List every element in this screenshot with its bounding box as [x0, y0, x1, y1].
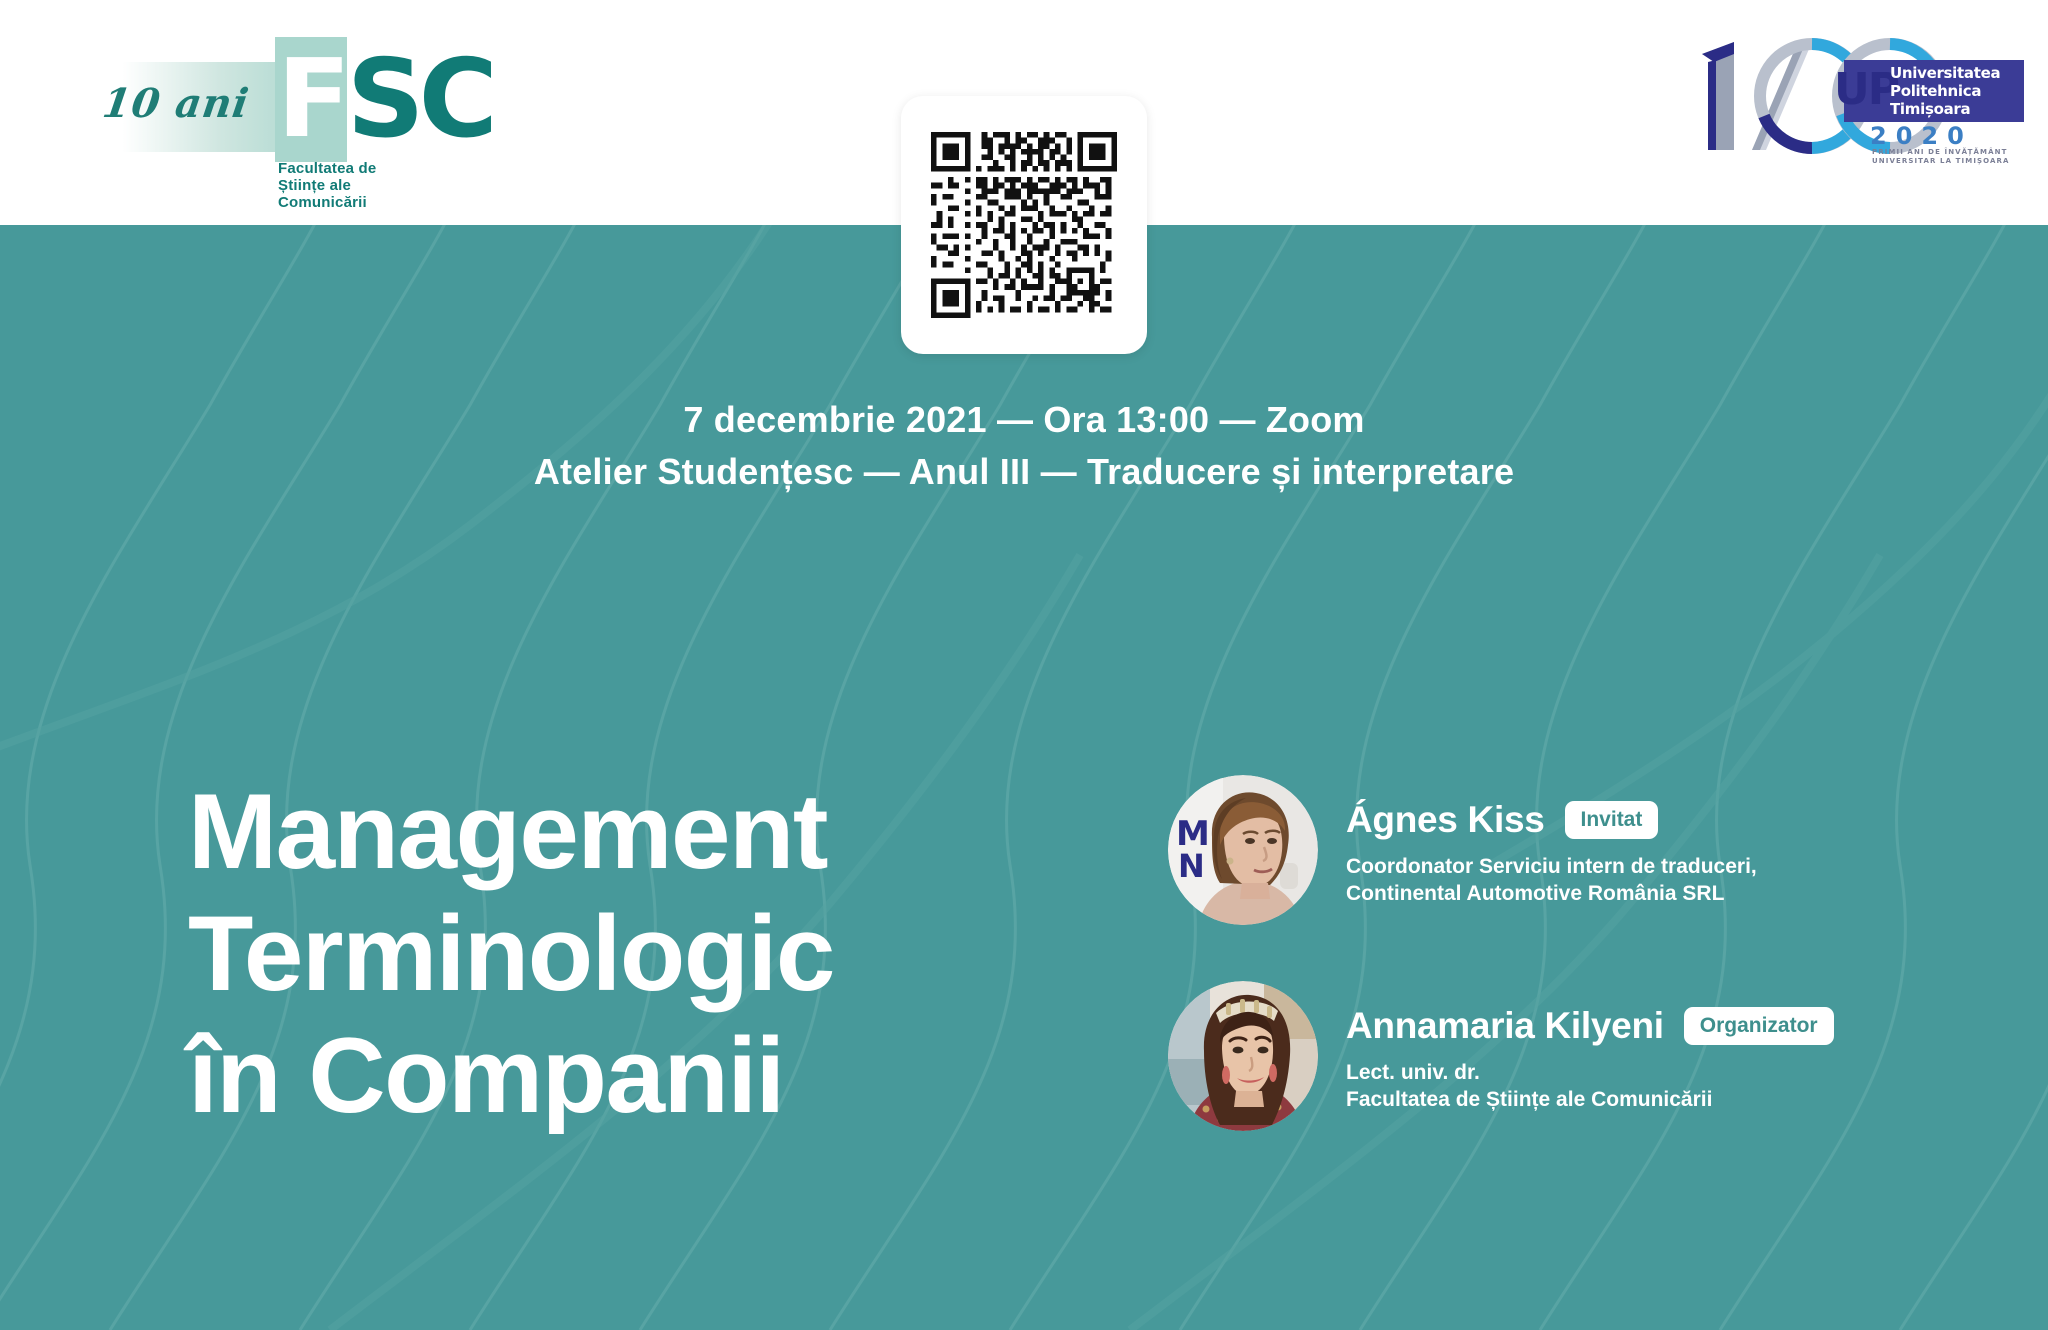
- event-datetime: 7 decembrie 2021 — Ora 13:00 — Zoom: [0, 394, 2048, 446]
- speaker-header: Ágnes Kiss Invitat: [1346, 799, 1757, 841]
- status-badge: Organizator: [1684, 1007, 1834, 1045]
- fsc-letter-f: F: [275, 37, 347, 162]
- qr-code-icon[interactable]: [931, 132, 1117, 318]
- speaker-card-annamaria-kilyeni: Annamaria Kilyeni Organizator Lect. univ…: [1168, 981, 1988, 1131]
- title-line-2: Terminologic: [188, 892, 834, 1014]
- speaker-role-line-1: Coordonator Serviciu intern de traduceri…: [1346, 853, 1757, 880]
- speaker-name: Ágnes Kiss: [1346, 799, 1545, 841]
- speaker-role-line-2: Continental Automotive România SRL: [1346, 880, 1757, 907]
- qr-code-card[interactable]: [901, 96, 1147, 354]
- avatar-photo-agnes-kiss: M N: [1168, 775, 1318, 925]
- upt-abbreviation: UP: [1834, 65, 1898, 115]
- speaker-role-line-1: Lect. univ. dr.: [1346, 1059, 1834, 1086]
- speaker-list: M N: [1168, 775, 1988, 1187]
- event-details: 7 decembrie 2021 — Ora 13:00 — Zoom Atel…: [0, 394, 2048, 498]
- speaker-role-line-2: Facultatea de Științe ale Comunicării: [1346, 1086, 1834, 1113]
- speaker-role: Lect. univ. dr. Facultatea de Științe al…: [1346, 1059, 1834, 1113]
- fsc-anniversary-text: 10 ani: [100, 80, 252, 127]
- title-line-3: în Companii: [188, 1014, 834, 1136]
- speaker-card-agnes-kiss: M N: [1168, 775, 1988, 925]
- svg-text:N: N: [1178, 847, 1205, 885]
- avatar-photo-annamaria-kilyeni: [1168, 981, 1318, 1131]
- upt-year: 2020: [1870, 122, 1973, 150]
- event-poster: 10 ani FSC Facultatea de Științe ale Com…: [0, 0, 2048, 1330]
- upt-centennial-logo: UP Universitatea Politehnica Timișoara 2…: [1694, 32, 2024, 162]
- speaker-role: Coordonator Serviciu intern de traduceri…: [1346, 853, 1757, 907]
- upt-name-line-3: Timișoara: [1890, 100, 2000, 118]
- fsc-letters-sc: SC: [347, 37, 492, 162]
- speaker-info: Ágnes Kiss Invitat Coordonator Serviciu …: [1346, 775, 1757, 907]
- title-line-1: Management: [188, 770, 834, 892]
- fsc-logo-letters: FSC: [275, 46, 492, 154]
- upt-name-line-2: Politehnica: [1890, 82, 2000, 100]
- upt-name-line-1: Universitatea: [1890, 64, 2000, 82]
- avatar: [1168, 981, 1318, 1131]
- speaker-info: Annamaria Kilyeni Organizator Lect. univ…: [1346, 981, 1834, 1113]
- fsc-logo-subtitle: Facultatea de Științe ale Comunicării: [278, 160, 425, 211]
- page-title: Management Terminologic în Companii: [188, 770, 834, 1136]
- status-badge: Invitat: [1565, 801, 1659, 839]
- avatar: M N: [1168, 775, 1318, 925]
- event-workshop: Atelier Studențesc — Anul III — Traducer…: [0, 446, 2048, 498]
- speaker-header: Annamaria Kilyeni Organizator: [1346, 1005, 1834, 1047]
- speaker-name: Annamaria Kilyeni: [1346, 1005, 1664, 1047]
- upt-tagline: PRIMII ANI DE ÎNVĂȚĂMÂNT UNIVERSITAR LA …: [1872, 148, 2032, 166]
- upt-university-name: Universitatea Politehnica Timișoara: [1890, 64, 2000, 118]
- fsc-logo: 10 ani FSC Facultatea de Științe ale Com…: [95, 38, 425, 163]
